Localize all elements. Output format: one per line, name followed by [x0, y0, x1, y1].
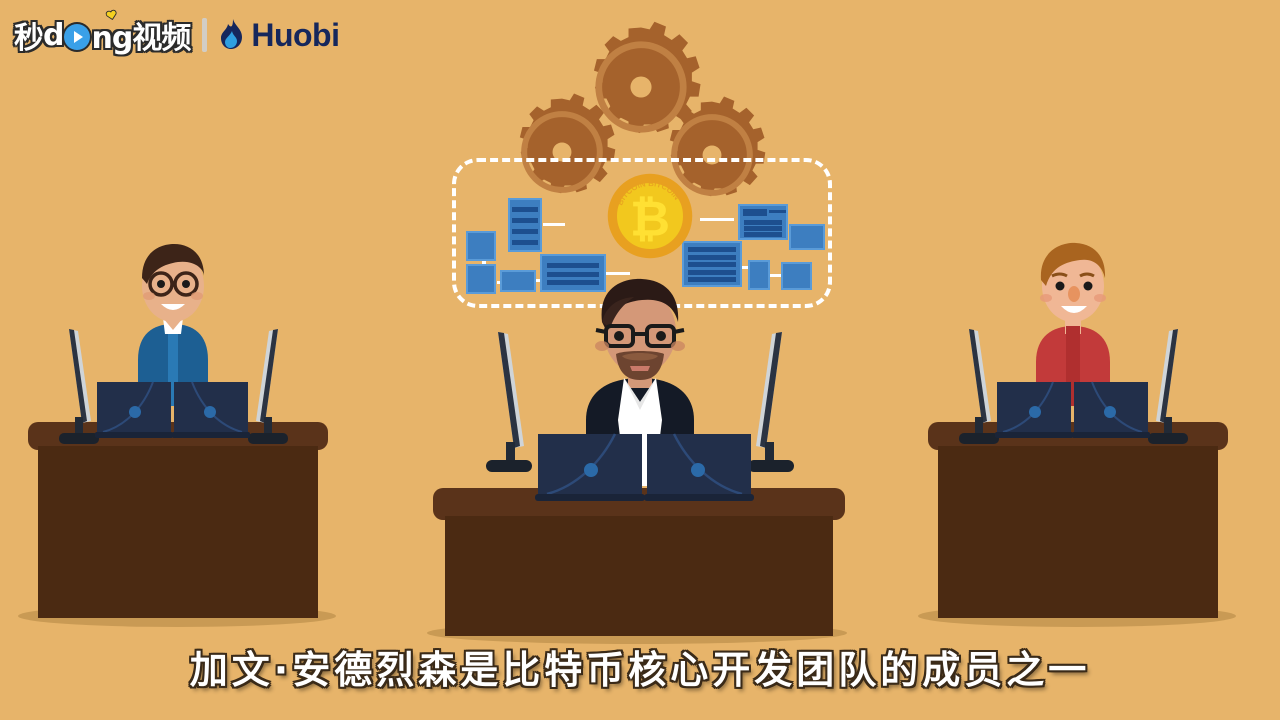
laptop-right-a: [995, 378, 1073, 440]
monitor-right-inner: [1142, 325, 1202, 450]
brand-divider: [202, 18, 207, 52]
laptop-left-b: [172, 378, 250, 440]
gear-top: [594, 22, 701, 133]
play-icon: [64, 24, 90, 50]
huobi-logo: Huobi: [219, 17, 339, 54]
laptop-center-a: [535, 428, 645, 506]
workstation-right: [900, 230, 1280, 630]
laptop-right-b: [1072, 378, 1150, 440]
brand-watermark: 秒dng视频 Huobi: [14, 12, 339, 58]
workstation-center: [415, 270, 865, 670]
laptop-left-a: [95, 378, 173, 440]
channel-logo: 秒dng视频: [14, 13, 190, 57]
channel-logo-letter-d: d: [43, 18, 63, 53]
workstation-left: [0, 230, 380, 630]
video-frame: 秒dng视频 Huobi: [0, 0, 1280, 720]
desk-body-right: [938, 446, 1218, 618]
bitcoin-coin-icon: BITCOIN BITCOIN ₿: [606, 172, 694, 260]
monitor-center-outer: [470, 328, 540, 478]
bitcoin-symbol: ₿: [630, 189, 670, 247]
desk-body-left: [38, 446, 318, 618]
channel-logo-text-1: 秒: [14, 13, 43, 57]
subtitle-caption: 加文·安德烈森是比特币核心开发团队的成员之一: [0, 639, 1280, 694]
huobi-wordmark: Huobi: [251, 17, 339, 54]
huobi-flame-icon: [219, 18, 245, 52]
laptop-center-b: [644, 428, 754, 506]
desk-body-center: [445, 516, 833, 636]
monitor-left-inner: [242, 325, 302, 450]
